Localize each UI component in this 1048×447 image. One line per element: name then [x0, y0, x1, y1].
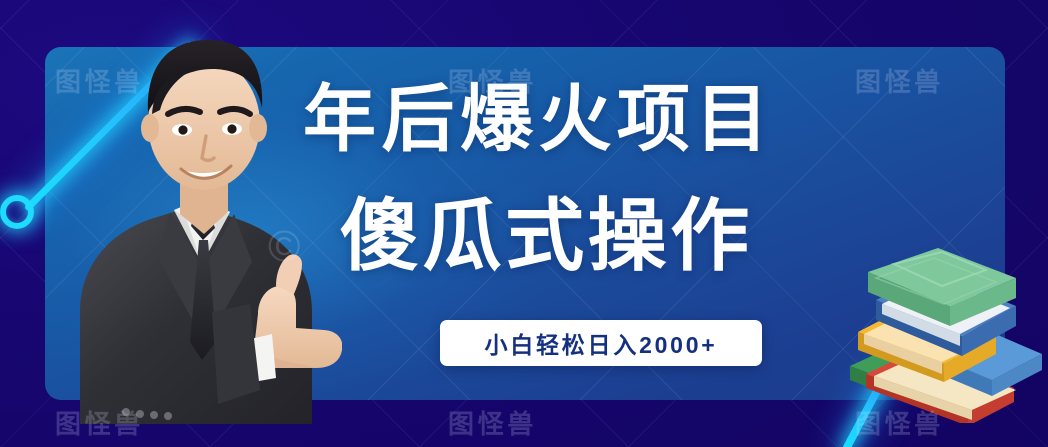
cyan-accent-ring-icon	[0, 195, 34, 229]
poster-canvas: 年后爆火项目 傻瓜式操作 小白轻松日入2000+	[0, 0, 1048, 447]
title-line-2: 傻瓜式操作	[340, 186, 753, 286]
watermark-4: 图怪兽	[55, 404, 144, 441]
cta-pill-button[interactable]: 小白轻松日入2000+	[440, 320, 762, 366]
stack-of-books-illustration	[846, 248, 1046, 423]
cta-pill-label: 小白轻松日入2000+	[485, 326, 718, 360]
headline-block: 年后爆火项目	[303, 72, 923, 168]
watermark-5: 图怪兽	[448, 404, 537, 441]
title-line-1: 年后爆火项目	[303, 72, 923, 168]
